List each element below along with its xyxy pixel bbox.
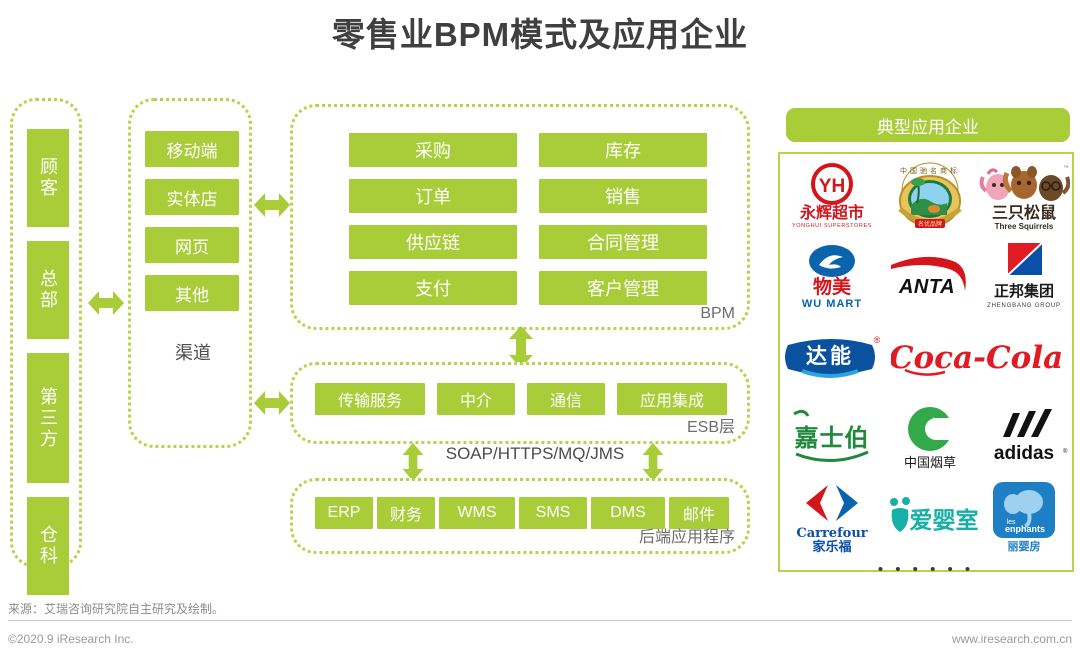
svg-text:Carrefour: Carrefour: [796, 526, 867, 541]
esb-item-transport-service[interactable]: 传输服务: [315, 383, 425, 415]
channel-item-2[interactable]: 网页: [145, 227, 239, 263]
bpm-item-payment[interactable]: 支付: [349, 271, 517, 305]
backend-container: ERP 财务 WMS SMS DMS 邮件 后端应用程序: [290, 478, 750, 554]
svg-text:嘉士伯: 嘉士伯: [795, 423, 870, 452]
carrefour-logo: Carrefour 家乐福: [788, 481, 876, 553]
channel-item-1[interactable]: 实体店: [145, 179, 239, 215]
logo-cell-yonghui[interactable]: YH 永辉超市 YONGHUI SUPERSTORES: [782, 158, 882, 236]
actor-item-3[interactable]: 仓科: [27, 497, 69, 595]
svg-text:adidas: adidas: [994, 443, 1054, 464]
yonghui-superstores-logo: YH 永辉超市 YONGHUI SUPERSTORES: [788, 162, 876, 232]
adidas-logo: adidas ®: [979, 407, 1069, 467]
bpm-item-purchasing[interactable]: 采购: [349, 133, 517, 167]
svg-text:®: ®: [1063, 448, 1068, 455]
svg-text:中国烟草: 中国烟草: [904, 456, 956, 471]
logo-grid: YH 永辉超市 YONGHUI SUPERSTORES 中国驰名商标: [782, 158, 1070, 580]
logo-cell-adidas[interactable]: adidas ®: [978, 398, 1070, 476]
protocol-label: SOAP/HTTPS/MQ/JMS: [430, 444, 640, 464]
svg-text:YONGHUI SUPERSTORES: YONGHUI SUPERSTORES: [792, 223, 872, 229]
bpm-container: 采购 订单 供应链 支付 库存 销售 合同管理 客户管理 BPM: [290, 104, 750, 330]
svg-text:丽婴房: 丽婴房: [1008, 539, 1041, 553]
svg-text:Coca-Cola: Coca-Cola: [891, 340, 1061, 376]
backend-item-sms[interactable]: SMS: [519, 497, 587, 529]
svg-text:enphants: enphants: [1005, 524, 1045, 534]
logo-cell-china-tobacco[interactable]: 中国烟草: [882, 398, 978, 476]
esb-item-app-integration[interactable]: 应用集成: [617, 383, 727, 415]
channel-label: 渠道: [131, 339, 255, 365]
backend-item-wms[interactable]: WMS: [439, 497, 515, 529]
china-tobacco-logo: 中国烟草: [889, 401, 971, 473]
svg-text:®: ®: [874, 335, 881, 345]
backend-box-label: 后端应用程序: [639, 523, 735, 547]
svg-text:名优品牌: 名优品牌: [918, 220, 942, 228]
bpm-item-customer-management[interactable]: 客户管理: [539, 271, 707, 305]
website-url: www.iresearch.com.cn: [952, 632, 1072, 646]
channel-item-3[interactable]: 其他: [145, 275, 239, 311]
actor-item-1[interactable]: 总部: [27, 241, 69, 339]
more-companies-indicator: • • • • • •: [782, 558, 1070, 580]
zhengbang-group-logo: 正邦集团 ZHENGBANG GROUP: [980, 241, 1068, 313]
channel-item-0[interactable]: 移动端: [145, 131, 239, 167]
three-squirrels-logo: 三只松鼠 Three Squirrels ™: [978, 161, 1070, 233]
logo-cell-carrefour[interactable]: Carrefour 家乐福: [782, 478, 882, 556]
svg-text:YH: YH: [819, 176, 845, 197]
svg-text:三只松鼠: 三只松鼠: [992, 203, 1056, 222]
svg-text:™: ™: [1064, 165, 1069, 171]
logo-cell-carlsberg[interactable]: 嘉士伯: [782, 398, 882, 476]
logo-cell-zhengbang[interactable]: 正邦集团 ZHENGBANG GROUP: [978, 238, 1070, 316]
svg-text:Three Squirrels: Three Squirrels: [995, 222, 1054, 231]
bpm-item-inventory[interactable]: 库存: [539, 133, 707, 167]
svg-text:正邦集团: 正邦集团: [994, 282, 1054, 300]
arrow-channel-bpm: [252, 190, 292, 220]
esb-item-mediation[interactable]: 中介: [437, 383, 515, 415]
backend-item-finance[interactable]: 财务: [377, 497, 435, 529]
esb-item-communication[interactable]: 通信: [527, 383, 605, 415]
logo-cell-famous-brand[interactable]: 中国驰名商标 名优品牌: [882, 158, 978, 236]
esb-box-label: ESB层: [687, 413, 735, 437]
svg-text:中国驰名商标: 中国驰名商标: [900, 166, 960, 175]
chinese-famous-brand-emblem: 中国驰名商标 名优品牌: [888, 161, 972, 233]
svg-text:WU MART: WU MART: [802, 298, 862, 310]
logo-cell-aiyingshi[interactable]: 爱婴室: [882, 478, 978, 556]
svg-text:物美: 物美: [813, 275, 852, 298]
bpm-item-order[interactable]: 订单: [349, 179, 517, 213]
logo-cell-danone[interactable]: 达能 ®: [782, 318, 882, 396]
carlsberg-logo: 嘉士伯: [786, 406, 878, 468]
svg-text:ANTA: ANTA: [898, 276, 955, 298]
arrow-channel-esb: [252, 388, 292, 418]
companies-panel: YH 永辉超市 YONGHUI SUPERSTORES 中国驰名商标: [778, 152, 1074, 572]
copyright-text: ©2020.9 iResearch Inc.: [8, 632, 134, 646]
svg-text:爱婴室: 爱婴室: [910, 507, 979, 534]
danone-logo: 达能 ®: [782, 329, 882, 385]
actors-container: 顾客 总部 第三方 仓科: [10, 98, 82, 568]
arrow-actors-channel: [88, 288, 124, 318]
backend-item-erp[interactable]: ERP: [315, 497, 373, 529]
footer-divider: [8, 620, 1072, 621]
bpm-item-sales[interactable]: 销售: [539, 179, 707, 213]
svg-text:ZHENGBANG GROUP: ZHENGBANG GROUP: [987, 303, 1061, 309]
actor-item-0[interactable]: 顾客: [27, 129, 69, 227]
slide-canvas: 零售业BPM模式及应用企业 顾客 总部 第三方 仓科 移动端 实体店 网页 其他…: [0, 0, 1080, 658]
actor-item-2[interactable]: 第三方: [27, 353, 69, 483]
logo-cell-three-squirrels[interactable]: 三只松鼠 Three Squirrels ™: [978, 158, 1070, 236]
les-enphants-logo: les enphants 丽婴房: [985, 480, 1063, 554]
companies-header: 典型应用企业: [786, 108, 1070, 142]
coca-cola-logo: Coca-Cola: [891, 330, 1061, 384]
logo-cell-wumart[interactable]: 物美 WU MART: [782, 238, 882, 316]
svg-text:永辉超市: 永辉超市: [799, 203, 864, 222]
svg-text:家乐福: 家乐福: [812, 539, 851, 553]
svg-text:达能: 达能: [806, 344, 854, 368]
aiyingshi-logo: 爱婴室: [882, 492, 978, 542]
bpm-box-label: BPM: [700, 305, 735, 323]
wumart-logo: 物美 WU MART: [789, 241, 875, 313]
anta-logo: ANTA: [885, 247, 975, 307]
channel-container: 移动端 实体店 网页 其他 渠道: [128, 98, 252, 448]
logo-cell-anta[interactable]: ANTA: [882, 238, 978, 316]
page-title: 零售业BPM模式及应用企业: [0, 8, 1080, 56]
logo-cell-les-enphants[interactable]: les enphants 丽婴房: [978, 478, 1070, 556]
bpm-item-supply-chain[interactable]: 供应链: [349, 225, 517, 259]
source-note: 来源：艾瑞咨询研究院自主研究及绘制。: [8, 600, 224, 617]
esb-container: 传输服务 中介 通信 应用集成 ESB层: [290, 362, 750, 444]
bpm-item-contract-management[interactable]: 合同管理: [539, 225, 707, 259]
logo-cell-coca-cola[interactable]: Coca-Cola: [882, 318, 1070, 396]
